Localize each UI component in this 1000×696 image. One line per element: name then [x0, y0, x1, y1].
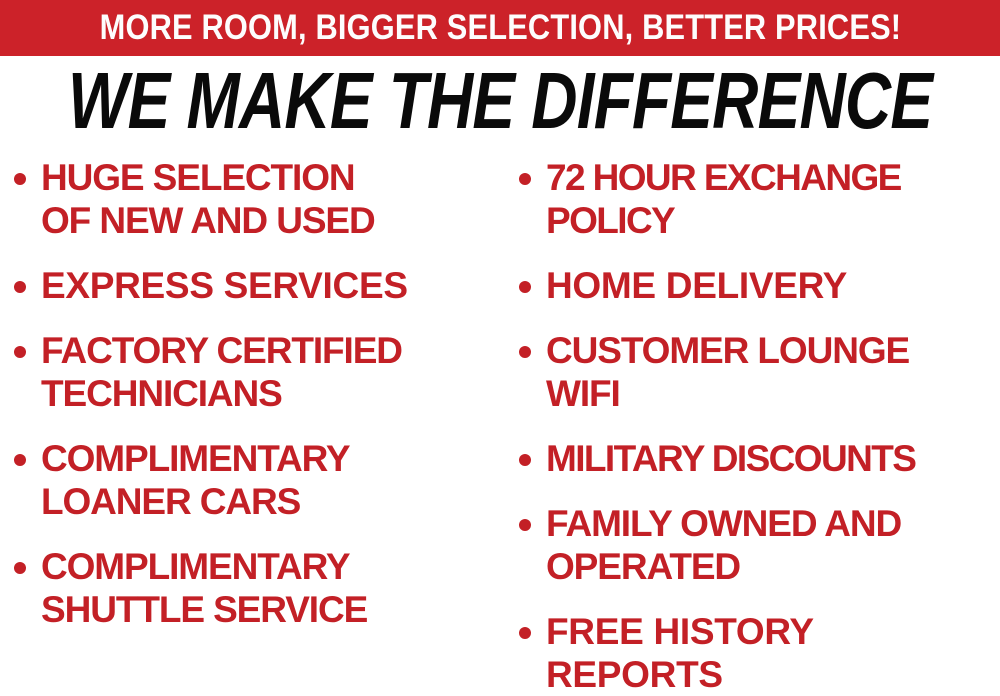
bullet-dot-icon — [14, 562, 26, 574]
list-item: HOME DELIVERY — [519, 264, 1000, 307]
bullet-dot-icon — [519, 281, 531, 293]
promo-banner-text: MORE ROOM, BIGGER SELECTION, BETTER PRIC… — [99, 10, 901, 46]
bullet-dot-icon — [14, 454, 26, 466]
headline-container: WE MAKE THE DIFFERENCE — [0, 62, 1000, 140]
feature-label: CUSTOMER LOUNGE WIFI — [546, 329, 909, 415]
feature-label: FACTORY CERTIFIED TECHNICIANS — [41, 329, 402, 415]
feature-label: FREE HISTORY REPORTS — [546, 610, 814, 696]
page-title: WE MAKE THE DIFFERENCE — [68, 62, 932, 140]
bullet-dot-icon — [519, 454, 531, 466]
list-item: FAMILY OWNED AND OPERATED — [519, 502, 1000, 588]
bullet-dot-icon — [14, 346, 26, 358]
list-item: EXPRESS SERVICES — [14, 264, 494, 307]
bullet-dot-icon — [519, 346, 531, 358]
list-item: FREE HISTORY REPORTS — [519, 610, 1000, 696]
bullet-dot-icon — [14, 281, 26, 293]
list-item: COMPLIMENTARY LOANER CARS — [14, 437, 494, 523]
bullet-dot-icon — [14, 173, 26, 185]
feature-label: COMPLIMENTARY SHUTTLE SERVICE — [41, 545, 367, 631]
feature-label: 72 HOUR EXCHANGE POLICY — [546, 156, 901, 242]
bullet-dot-icon — [519, 519, 531, 531]
features-column-left: HUGE SELECTION OF NEW AND USED EXPRESS S… — [14, 156, 494, 694]
list-item: 72 HOUR EXCHANGE POLICY — [519, 156, 1000, 242]
feature-label: EXPRESS SERVICES — [41, 264, 408, 307]
list-item: FACTORY CERTIFIED TECHNICIANS — [14, 329, 494, 415]
list-item: CUSTOMER LOUNGE WIFI — [519, 329, 1000, 415]
promo-banner: MORE ROOM, BIGGER SELECTION, BETTER PRIC… — [0, 0, 1000, 56]
feature-label: MILITARY DISCOUNTS — [546, 437, 915, 480]
list-item: MILITARY DISCOUNTS — [519, 437, 1000, 480]
features-columns: HUGE SELECTION OF NEW AND USED EXPRESS S… — [0, 156, 1000, 694]
bullet-dot-icon — [519, 173, 531, 185]
list-item: COMPLIMENTARY SHUTTLE SERVICE — [14, 545, 494, 631]
feature-label: FAMILY OWNED AND OPERATED — [546, 502, 901, 588]
list-item: HUGE SELECTION OF NEW AND USED — [14, 156, 494, 242]
feature-label: HUGE SELECTION OF NEW AND USED — [41, 156, 375, 242]
bullet-dot-icon — [519, 627, 531, 639]
feature-label: COMPLIMENTARY LOANER CARS — [41, 437, 349, 523]
features-column-right: 72 HOUR EXCHANGE POLICY HOME DELIVERY CU… — [519, 156, 1000, 694]
feature-label: HOME DELIVERY — [546, 264, 847, 307]
